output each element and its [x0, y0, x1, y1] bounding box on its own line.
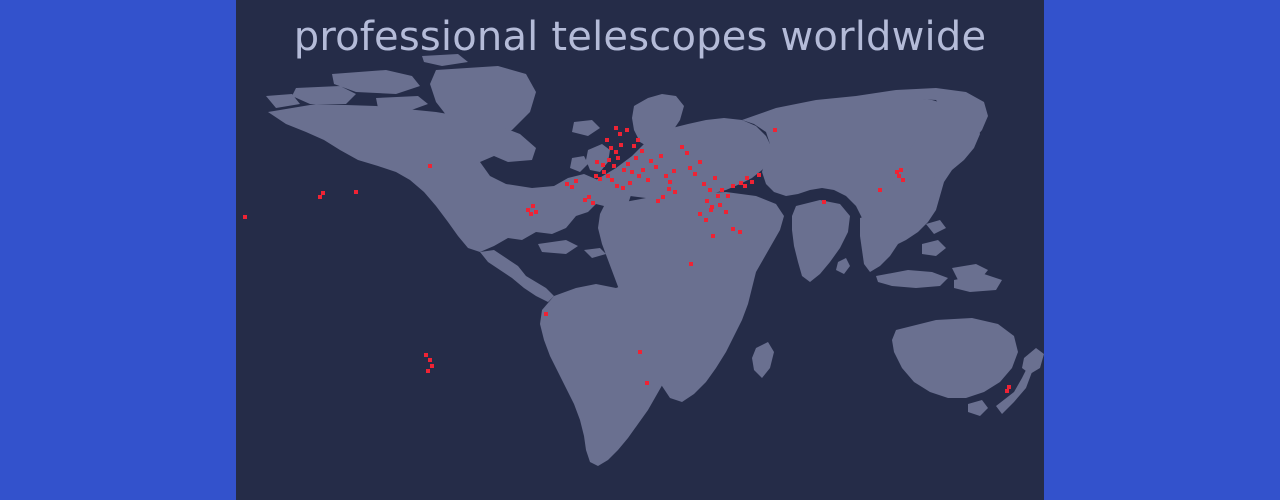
- telescope-marker: [724, 210, 728, 214]
- telescope-marker: [664, 174, 668, 178]
- telescope-marker: [614, 126, 618, 130]
- telescope-marker: [680, 145, 684, 149]
- telescope-marker: [630, 170, 634, 174]
- telescope-marker: [709, 208, 713, 212]
- telescope-marker: [628, 181, 632, 185]
- telescope-marker: [321, 191, 325, 195]
- telescope-marker: [897, 174, 901, 178]
- telescope-marker: [698, 160, 702, 164]
- telescope-marker: [641, 168, 645, 172]
- telescope-marker: [619, 143, 623, 147]
- telescope-marker: [698, 212, 702, 216]
- telescope-marker: [574, 179, 578, 183]
- telescope-marker: [430, 364, 434, 368]
- telescope-marker: [667, 187, 671, 191]
- telescope-marker: [616, 156, 620, 160]
- telescope-marker: [672, 169, 676, 173]
- telescope-marker: [614, 150, 618, 154]
- telescope-marker: [610, 178, 614, 182]
- telescope-marker: [318, 195, 322, 199]
- telescope-marker: [526, 208, 530, 212]
- world-map-panel: professional telescopes worldwide: [236, 0, 1044, 500]
- telescope-marker: [757, 173, 761, 177]
- page-root: professional telescopes worldwide: [0, 0, 1280, 500]
- telescope-marker: [673, 190, 677, 194]
- telescope-marker: [640, 149, 644, 153]
- telescope-marker: [594, 174, 598, 178]
- telescope-marker: [713, 176, 717, 180]
- telescope-marker: [708, 188, 712, 192]
- telescope-marker: [668, 180, 672, 184]
- telescope-marker: [622, 168, 626, 172]
- telescope-marker: [718, 203, 722, 207]
- telescope-marker: [612, 164, 616, 168]
- telescope-marker: [602, 170, 606, 174]
- telescope-marker: [570, 185, 574, 189]
- telescope-marker: [702, 182, 706, 186]
- telescope-marker: [544, 312, 548, 316]
- telescope-marker: [661, 195, 665, 199]
- telescope-marker: [689, 262, 693, 266]
- telescope-marker: [705, 199, 709, 203]
- telescope-marker: [424, 353, 428, 357]
- telescope-marker: [649, 159, 653, 163]
- telescope-marker: [750, 180, 754, 184]
- telescope-marker: [646, 178, 650, 182]
- telescope-marker: [428, 358, 432, 362]
- telescope-marker: [583, 198, 587, 202]
- telescope-marker: [716, 194, 720, 198]
- telescope-marker: [534, 210, 538, 214]
- telescope-marker: [607, 158, 611, 162]
- telescope-marker: [638, 350, 642, 354]
- telescope-marker: [605, 138, 609, 142]
- telescope-marker: [645, 381, 649, 385]
- telescope-marker: [899, 168, 903, 172]
- telescope-marker: [626, 162, 630, 166]
- telescope-marker: [426, 369, 430, 373]
- telescope-marker: [632, 144, 636, 148]
- telescope-marker: [601, 163, 605, 167]
- telescope-marker: [693, 172, 697, 176]
- telescope-marker: [531, 204, 535, 208]
- telescope-marker: [595, 160, 599, 164]
- telescope-marker: [895, 170, 899, 174]
- telescope-marker: [637, 174, 641, 178]
- telescope-marker: [587, 195, 591, 199]
- telescope-marker: [636, 138, 640, 142]
- telescope-marker: [621, 186, 625, 190]
- telescope-marker: [606, 174, 610, 178]
- telescope-marker: [1005, 389, 1009, 393]
- telescope-marker: [354, 190, 358, 194]
- telescope-marker: [659, 154, 663, 158]
- telescope-marker: [598, 177, 602, 181]
- telescope-marker: [656, 199, 660, 203]
- telescope-marker: [901, 178, 905, 182]
- telescope-marker: [634, 156, 638, 160]
- telescope-marker: [654, 165, 658, 169]
- telescope-marker: [745, 176, 749, 180]
- telescope-marker: [704, 218, 708, 222]
- telescope-marker: [591, 201, 595, 205]
- telescope-marker: [822, 200, 826, 204]
- telescope-marker: [738, 230, 742, 234]
- telescope-marker: [565, 182, 569, 186]
- world-map-svg: [236, 0, 1044, 500]
- telescope-marker: [428, 164, 432, 168]
- telescope-marker: [615, 184, 619, 188]
- telescope-marker: [625, 128, 629, 132]
- telescope-marker: [243, 215, 247, 219]
- telescope-marker: [743, 184, 747, 188]
- telescope-marker: [739, 181, 743, 185]
- telescope-marker: [720, 188, 724, 192]
- telescope-marker: [529, 212, 533, 216]
- telescope-marker: [618, 132, 622, 136]
- telescope-marker: [773, 128, 777, 132]
- telescope-marker: [685, 151, 689, 155]
- telescope-marker: [731, 184, 735, 188]
- telescope-marker: [711, 234, 715, 238]
- telescope-marker: [731, 227, 735, 231]
- telescope-marker: [1007, 385, 1011, 389]
- telescope-marker: [726, 194, 730, 198]
- telescope-marker: [688, 166, 692, 170]
- telescope-marker: [878, 188, 882, 192]
- telescope-marker: [609, 146, 613, 150]
